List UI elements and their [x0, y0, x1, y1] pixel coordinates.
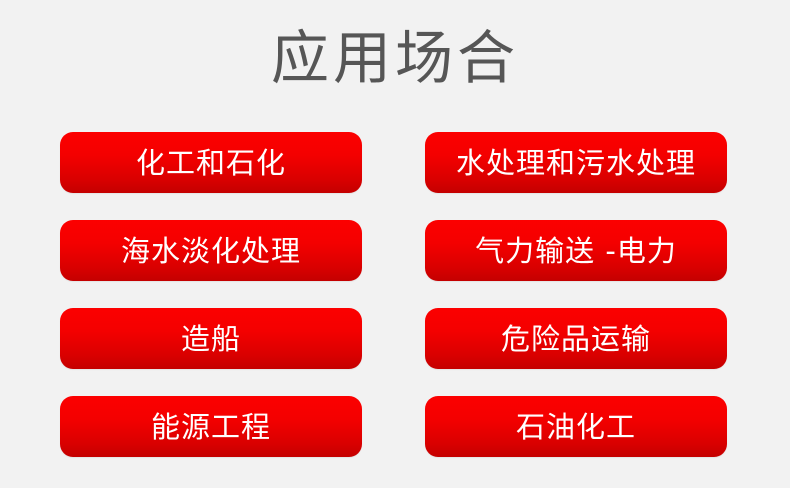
- app-button-label: 水处理和污水处理: [456, 146, 696, 180]
- page-title: 应用场合: [0, 22, 790, 94]
- app-button-water-wastewater-treatment[interactable]: 水处理和污水处理: [425, 132, 727, 193]
- app-button-label: 石油化工: [516, 410, 636, 444]
- app-button-label: 化工和石化: [136, 146, 286, 180]
- app-button-hazardous-goods-transport[interactable]: 危险品运输: [425, 308, 727, 369]
- app-button-chemical-petrochemical[interactable]: 化工和石化: [60, 132, 362, 193]
- app-button-shipbuilding[interactable]: 造船: [60, 308, 362, 369]
- app-button-label: 气力输送 -电力: [475, 234, 677, 268]
- app-button-label: 能源工程: [151, 410, 271, 444]
- application-buttons-grid: 化工和石化 水处理和污水处理 海水淡化处理 气力输送 -电力 造船 危险品运输 …: [60, 132, 727, 457]
- app-button-energy-engineering[interactable]: 能源工程: [60, 396, 362, 457]
- app-button-label: 危险品运输: [501, 322, 651, 356]
- application-scenarios-page: 应用场合 化工和石化 水处理和污水处理 海水淡化处理 气力输送 -电力 造船 危…: [0, 0, 790, 488]
- app-button-petrochemical[interactable]: 石油化工: [425, 396, 727, 457]
- app-button-label: 海水淡化处理: [121, 234, 301, 268]
- app-button-seawater-desalination[interactable]: 海水淡化处理: [60, 220, 362, 281]
- app-button-label: 造船: [181, 322, 241, 356]
- app-button-pneumatic-conveying-power[interactable]: 气力输送 -电力: [425, 220, 727, 281]
